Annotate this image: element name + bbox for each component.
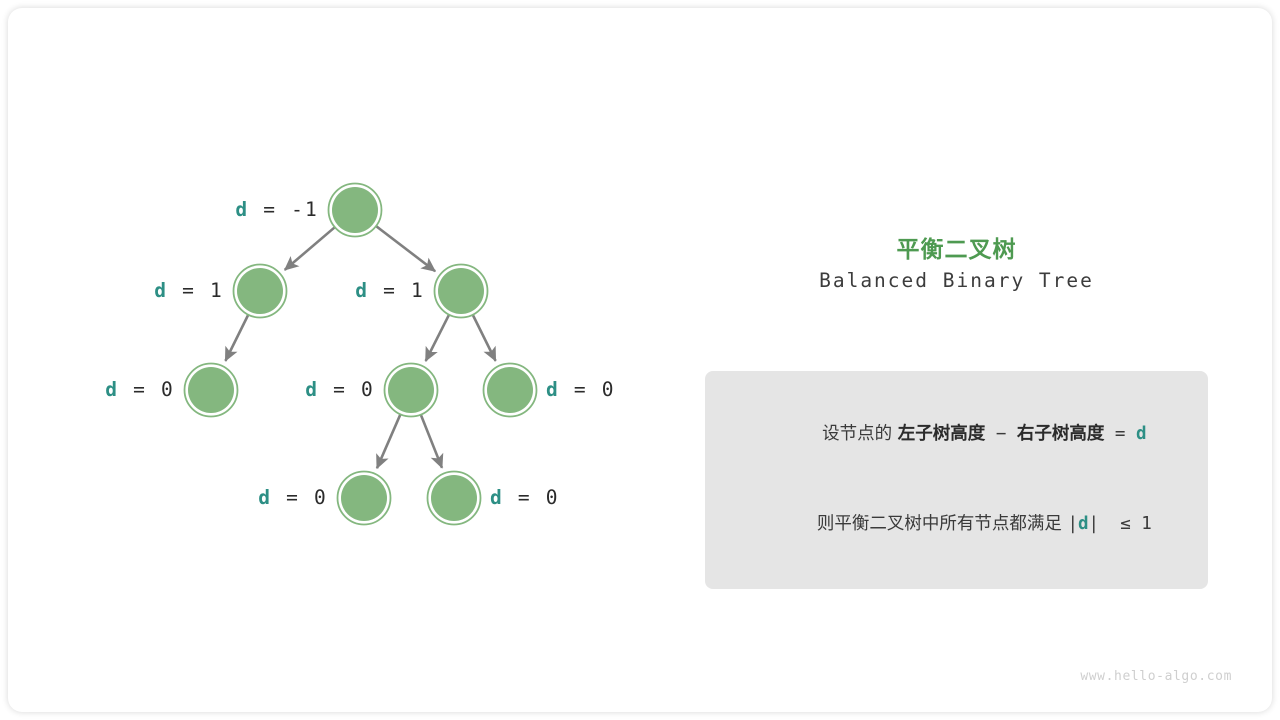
tree-node-disc [332, 187, 378, 233]
definition-inequality: ≤ 1 [1110, 514, 1152, 534]
node-balance-label: d = 1 [8, 281, 425, 301]
diagram-card: d = -1d = 1d = 1d = 0d = 0d = 0d = 0d = … [8, 8, 1272, 712]
tree-node-disc [341, 475, 387, 521]
tree-node-disc [438, 268, 484, 314]
tree-edges [225, 226, 495, 468]
tree-edge [377, 414, 400, 468]
tree-edge [285, 227, 335, 270]
node-balance-value: = 0 [560, 378, 616, 401]
definition-right-subtree-height: 右子树高度 [1017, 424, 1105, 444]
definition-line-2: 则平衡二叉树中所有节点都满足 |d| ≤ 1 [705, 479, 1208, 569]
definition-d-variable-abs: d [1078, 514, 1089, 534]
node-balance-value: = 0 [272, 486, 328, 509]
tree-edge [376, 226, 435, 271]
node-balance-variable: d [235, 198, 249, 221]
definition-d-variable: d [1136, 424, 1147, 444]
definition-left-subtree-height: 左子树高度 [898, 424, 986, 444]
node-balance-value: = 0 [504, 486, 560, 509]
node-balance-label: d = 0 [490, 488, 560, 508]
abs-bar-close: | [1089, 514, 1110, 534]
definition-minus-sign: − [985, 424, 1017, 444]
panel-title-english: Balanced Binary Tree [705, 269, 1208, 292]
tree-node-disc [487, 367, 533, 413]
node-balance-value: = -1 [249, 198, 319, 221]
definition-line-1: 设节点的 左子树高度 − 右子树高度 = d [705, 389, 1208, 479]
info-panel: 平衡二叉树 Balanced Binary Tree 设节点的 左子树高度 − … [705, 8, 1208, 712]
definition-box: 设节点的 左子树高度 − 右子树高度 = d 则平衡二叉树中所有节点都满足 |d… [705, 371, 1208, 589]
panel-title-chinese: 平衡二叉树 [705, 230, 1208, 264]
node-balance-variable: d [490, 486, 504, 509]
binary-tree-diagram [8, 8, 708, 712]
node-balance-label: d = -1 [8, 200, 319, 220]
node-balance-variable: d [355, 279, 369, 302]
node-balance-value: = 0 [319, 378, 375, 401]
node-balance-variable: d [546, 378, 560, 401]
tree-edge [473, 315, 496, 361]
node-balance-label: d = 0 [8, 380, 375, 400]
tree-node-disc [388, 367, 434, 413]
tree-node[interactable] [428, 472, 481, 525]
definition-line-2-prefix: 则平衡二叉树中所有节点都满足 [817, 514, 1068, 534]
tree-edge [421, 415, 442, 468]
node-balance-label: d = 0 [546, 380, 616, 400]
watermark-url: www.hello-algo.com [1080, 669, 1232, 684]
tree-node[interactable] [484, 364, 537, 417]
tree-node[interactable] [338, 472, 391, 525]
tree-node[interactable] [385, 364, 438, 417]
node-balance-variable: d [305, 378, 319, 401]
tree-node-disc [431, 475, 477, 521]
abs-bar-open: | [1067, 514, 1078, 534]
tree-node[interactable] [435, 265, 488, 318]
node-balance-label: d = 0 [8, 488, 328, 508]
node-balance-variable: d [258, 486, 272, 509]
definition-equals-sign: = [1104, 424, 1136, 444]
tree-edge [426, 315, 449, 361]
node-balance-value: = 1 [369, 279, 425, 302]
tree-edge [225, 315, 248, 361]
tree-nodes [185, 184, 537, 525]
tree-node[interactable] [329, 184, 382, 237]
screenshot-root: d = -1d = 1d = 1d = 0d = 0d = 0d = 0d = … [0, 0, 1280, 720]
definition-line-1-prefix: 设节点的 [822, 424, 898, 444]
